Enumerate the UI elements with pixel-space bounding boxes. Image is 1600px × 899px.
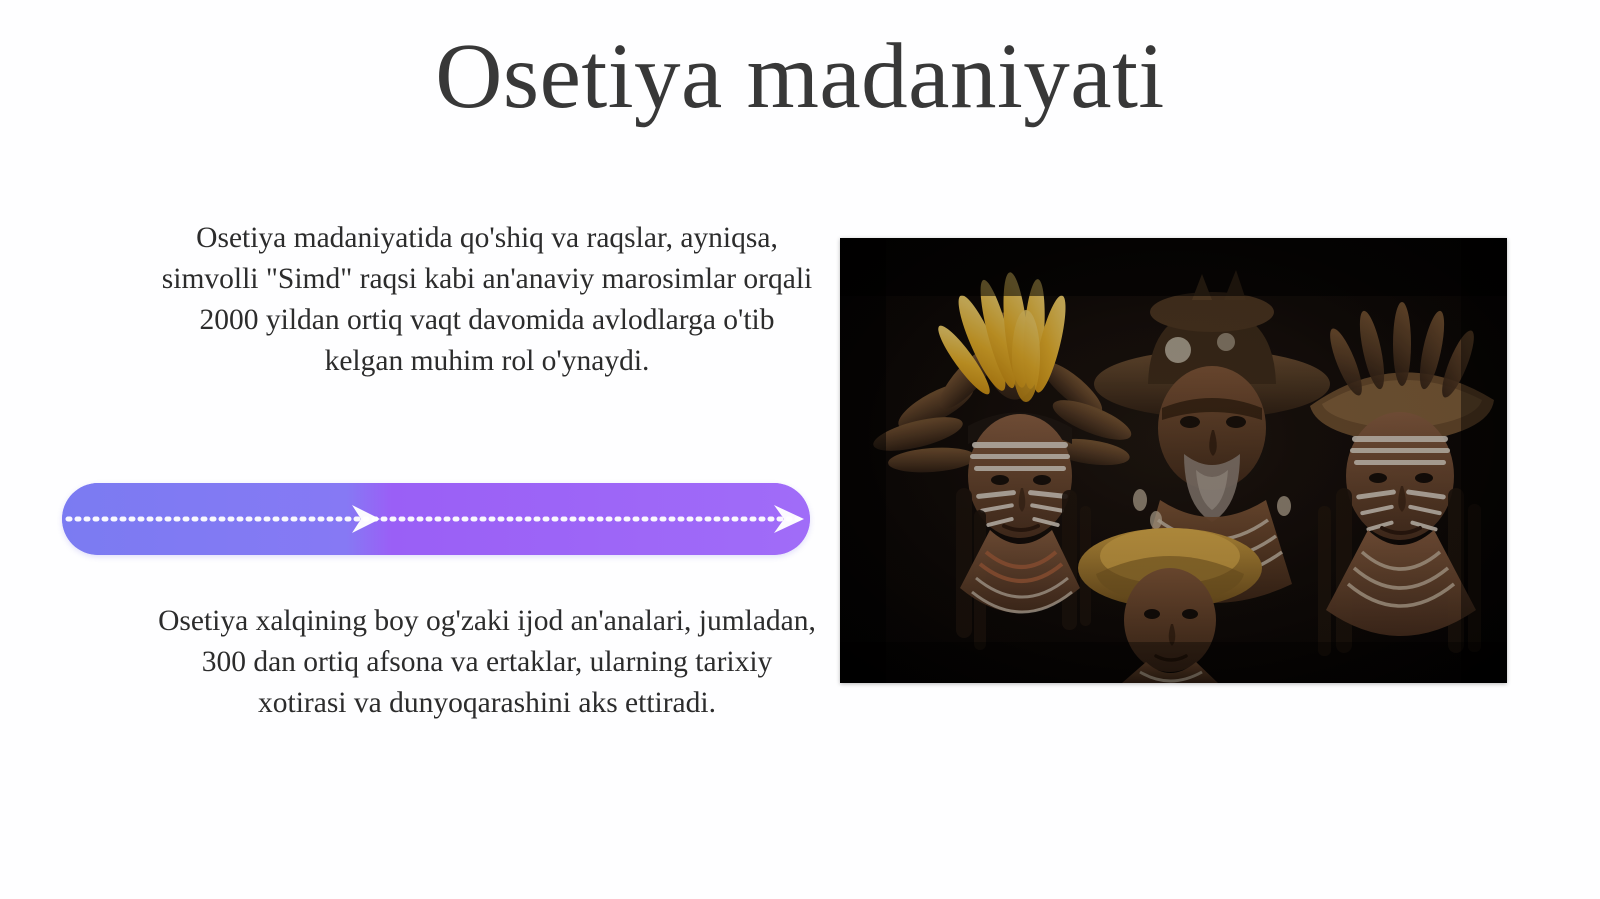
page-title: Osetiya madaniyati	[0, 22, 1600, 132]
tribal-portrait-photo	[840, 238, 1507, 683]
slide-canvas: Osetiya madaniyati Osetiya madaniyatida …	[0, 0, 1600, 899]
gradient-arrow-bar	[62, 483, 810, 555]
left-content-column: Osetiya madaniyatida qo'shiq va raqslar,…	[62, 218, 810, 748]
body-paragraph-top: Osetiya madaniyatida qo'shiq va raqslar,…	[157, 218, 817, 382]
body-paragraph-bottom: Osetiya xalqining boy og'zaki ijod an'an…	[157, 601, 817, 724]
tribal-portrait-photo-icon	[840, 238, 1507, 683]
right-arrow-dotted-line-icon	[62, 483, 810, 555]
